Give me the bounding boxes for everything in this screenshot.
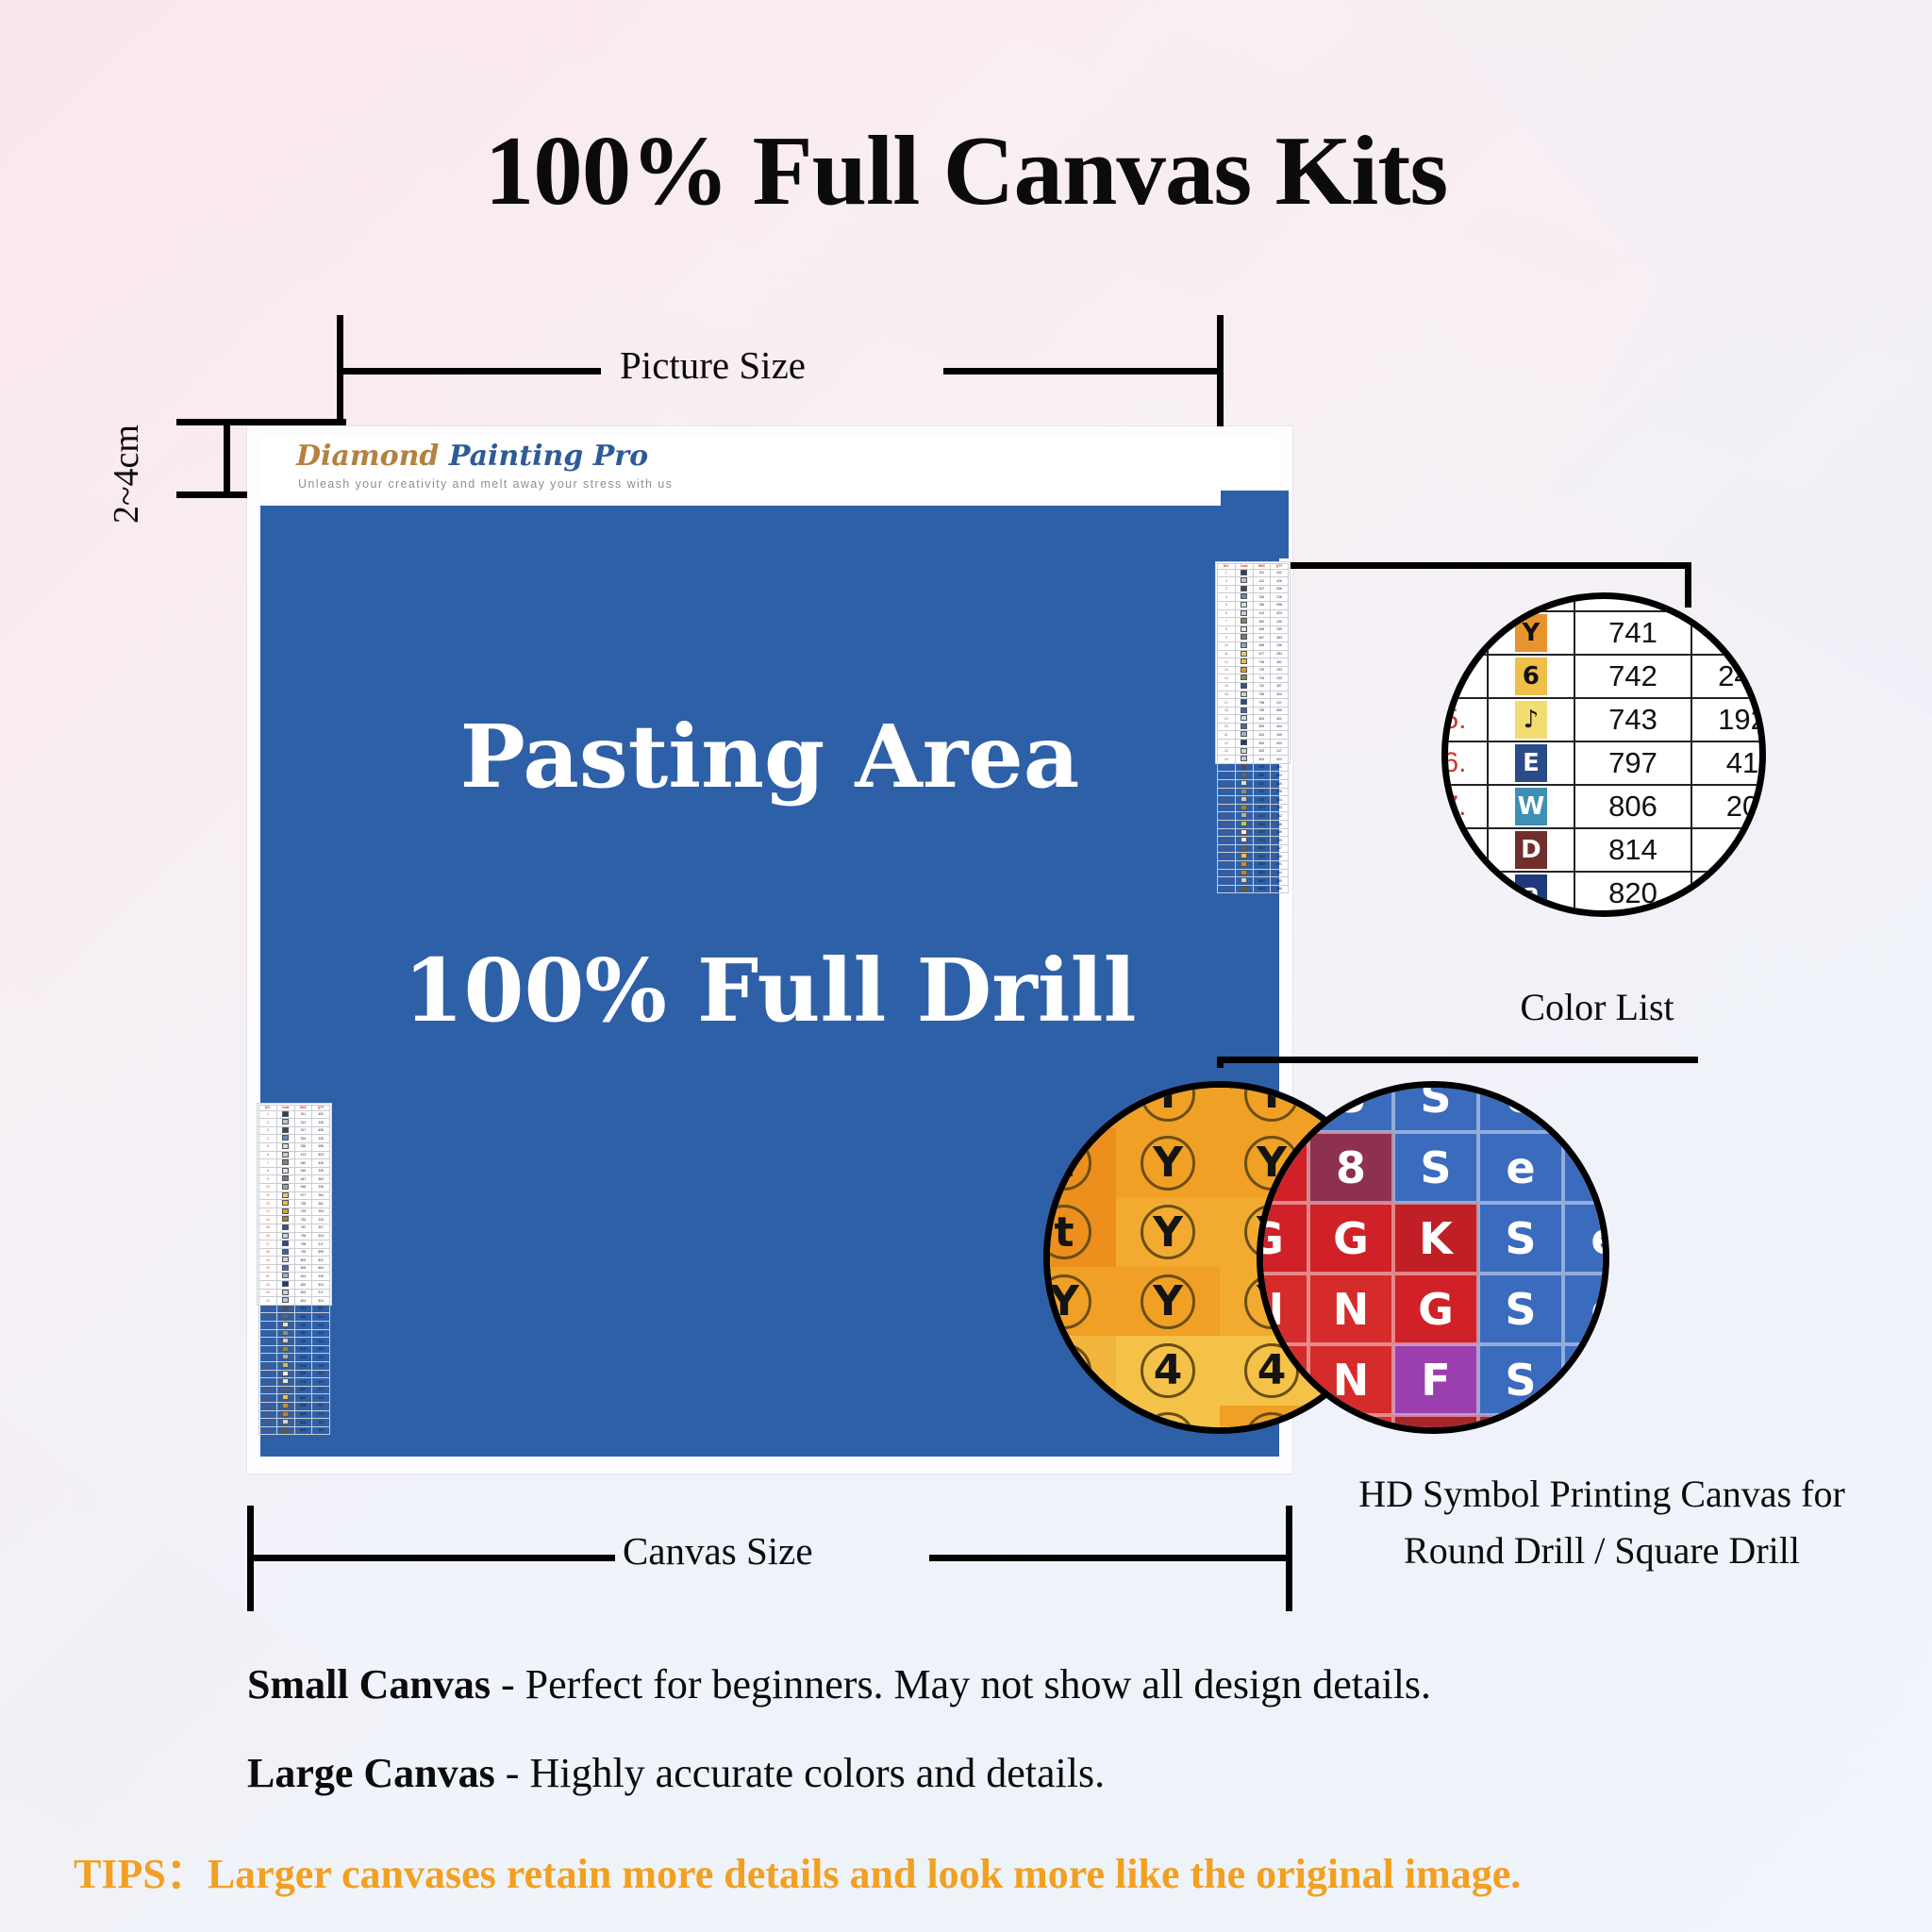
table-row: 23823217 (259, 1289, 330, 1297)
cell-qty: 226 (312, 1135, 330, 1143)
cell-dmc: 312 (1253, 577, 1271, 586)
drill-cell: e (1478, 1132, 1563, 1203)
cell-qty: 998 (312, 1142, 330, 1151)
cell-no: 12 (1218, 658, 1236, 667)
cell-no: 18 (259, 1248, 277, 1257)
small-canvas-dash: - (491, 1661, 525, 1707)
table-row: 13729293 (259, 1207, 330, 1216)
cell-qty: 363 (312, 1175, 330, 1184)
cell-no: 32 (1218, 821, 1236, 829)
cell-qty: 148 (312, 1362, 330, 1371)
cell-symbol (276, 1338, 294, 1346)
table-row: 3317636 (259, 1126, 330, 1135)
table-row: 27930645 (1218, 780, 1289, 789)
cell-qty: 524 (1271, 691, 1289, 699)
cell-qty: 524 (1271, 609, 1289, 618)
color-chip-right (1221, 491, 1289, 558)
cell-symbol (1235, 650, 1253, 658)
table-row: 333787369 (259, 1370, 330, 1378)
cell-symbol (1235, 860, 1253, 869)
cell-symbol (1235, 804, 1253, 812)
table-row: 8645339 (259, 1167, 330, 1175)
drill-cell: S (1478, 1344, 1563, 1415)
cell-no: 21 (1218, 731, 1236, 740)
cell-dmc: 824 (294, 1297, 312, 1306)
cell-qty: 414 (1691, 741, 1766, 785)
color-list-zoom-circle: 13.★733Y741114.6742248315.♪743192116.E79… (1441, 592, 1766, 917)
cell-qty: 204 (1691, 785, 1766, 828)
cell-dmc: 799 (294, 1248, 312, 1257)
cell-dmc: 645 (294, 1167, 312, 1175)
cell-no: 6 (1218, 609, 1236, 618)
cell-qty: 356 (312, 1426, 330, 1435)
cell-symbol (276, 1257, 294, 1265)
cell-no: 1 (259, 1110, 277, 1119)
cell-qty: 233 (1271, 675, 1289, 683)
cell-no: 30 (259, 1345, 277, 1354)
cell-symbol (1235, 869, 1253, 877)
cell-symbol (1235, 585, 1253, 593)
cell-qty: 524 (312, 1338, 330, 1346)
cell-no: 39 (1218, 877, 1236, 886)
cell-symbol: Y (1488, 611, 1574, 655)
drill-cell: Y (1043, 1081, 1116, 1128)
table-row: 6413524 (1218, 609, 1289, 618)
drill-symbol: t (1043, 1136, 1091, 1191)
cell-no: 3 (1218, 585, 1236, 593)
cell-qty: 528 (1271, 788, 1289, 796)
cell-symbol (276, 1207, 294, 1216)
cell-no: 32 (259, 1362, 277, 1371)
cell-no: 3 (259, 1126, 277, 1135)
table-row: 373828291 (1218, 860, 1289, 869)
table-row: 383829414 (1218, 869, 1289, 877)
cell-qty: 217 (312, 1241, 330, 1249)
cell-no: 35 (1218, 844, 1236, 853)
cell-qty: 293 (1271, 666, 1289, 675)
cell-no: 29 (259, 1338, 277, 1346)
cell-symbol (1235, 715, 1253, 724)
table-row: 373828291 (259, 1402, 330, 1410)
cell-dmc: 803 (294, 1257, 312, 1265)
square-drill-grid: GSSeeG8SeeGGKSeNNGSeNNFSSNNKKK (1257, 1081, 1609, 1434)
callout-leader-drill-h (1217, 1057, 1698, 1063)
drill-symbol: Y (1043, 1081, 1091, 1122)
cell-symbol: ♪ (1488, 698, 1574, 741)
cell-qty: 284 (312, 1191, 330, 1200)
cell-dmc: 640 (1253, 618, 1271, 626)
cell-dmc: 742 (294, 1224, 312, 1232)
cell-no: 31 (259, 1354, 277, 1362)
drill-symbol: t (1043, 1205, 1091, 1259)
cell-symbol (276, 1378, 294, 1387)
cell-no: 37 (259, 1402, 277, 1410)
cell-symbol (276, 1329, 294, 1338)
table-row: 343799609 (1218, 837, 1289, 845)
cell-symbol: 6 (1488, 655, 1574, 698)
symbol-swatch: Y (1515, 614, 1547, 652)
cell-no: 15 (1218, 682, 1236, 691)
page-background: 100% Full Canvas Kits Picture Size 2~4cm… (0, 0, 1932, 1932)
cell-qty: 524 (312, 1281, 330, 1290)
margin-label: 2~4cm (106, 425, 147, 524)
cell-symbol (276, 1224, 294, 1232)
cell-dmc: 647 (294, 1175, 312, 1184)
cell-no: 19 (259, 1257, 277, 1265)
cell-qty: 293 (312, 1207, 330, 1216)
cell-symbol: D (1488, 828, 1574, 872)
cell-dmc: 3843 (294, 1426, 312, 1435)
table-row: 1161432 (259, 1110, 330, 1119)
table-row: 29939524 (1218, 796, 1289, 805)
cell-symbol (276, 1167, 294, 1175)
table-row: 14.67422483 (1441, 655, 1766, 698)
cell-no: 26 (259, 1313, 277, 1322)
cell-symbol (1235, 837, 1253, 845)
cell-dmc: 813 (1253, 731, 1271, 740)
drill-cell: G (1257, 1132, 1308, 1203)
cell-symbol (276, 1322, 294, 1330)
cell-no: 36 (259, 1394, 277, 1403)
table-row: 353807217 (259, 1386, 330, 1394)
cell-qty: 609 (312, 1378, 330, 1387)
cell-symbol (1235, 601, 1253, 609)
cell-symbol (1235, 707, 1253, 715)
table-row: Y7411 (1441, 611, 1766, 655)
symbol-swatch: E (1515, 744, 1547, 782)
cell-qty: 217 (1271, 747, 1289, 756)
cell-dmc: 648 (1253, 641, 1271, 650)
cell-dmc: 3829 (1253, 869, 1271, 877)
color-strip-right: NO.CodeDMCQTY116143223124263317636433422… (1215, 561, 1291, 764)
cell-qty: 369 (1271, 828, 1289, 837)
drill-cell: Y (1043, 1267, 1116, 1336)
symbol-swatch: W (1515, 788, 1547, 825)
cell-qty: 338 (1271, 853, 1289, 861)
table-row: 5336998 (1218, 601, 1289, 609)
cell-dmc: 825 (294, 1305, 312, 1313)
cell-symbol (276, 1191, 294, 1200)
cell-no: 38 (1218, 869, 1236, 877)
table-row: 18799899 (1218, 707, 1289, 715)
cell-qty: 609 (1271, 837, 1289, 845)
cell-qty: 522 (1271, 715, 1289, 724)
cell-no: 25 (1218, 763, 1236, 772)
cell-symbol (276, 1410, 294, 1419)
cell-dmc: 312 (294, 1119, 312, 1127)
large-canvas-label: Large Canvas (247, 1750, 495, 1796)
table-row: 19803522 (259, 1257, 330, 1265)
cell-dmc: 742 (1253, 682, 1271, 691)
cell-qty: 291 (1271, 860, 1289, 869)
callout-leader-colorlist-h (1291, 562, 1691, 569)
cell-no: 19 (1218, 715, 1236, 724)
drill-cell: G (1308, 1203, 1393, 1274)
cell-symbol (1235, 691, 1253, 699)
cell-symbol (1235, 609, 1253, 618)
table-row: 4334226 (1218, 593, 1289, 602)
cell-dmc: 3799 (1253, 837, 1271, 845)
cell-no: 7 (1218, 618, 1236, 626)
cell-symbol (1235, 723, 1253, 731)
table-row: 28931528 (259, 1329, 330, 1338)
table-row: 323348148 (259, 1362, 330, 1371)
cell-symbol (1235, 577, 1253, 586)
cell-dmc: 931 (1253, 788, 1271, 796)
cell-no: 6 (259, 1151, 277, 1159)
table-row: 5336998 (259, 1142, 330, 1151)
cell-symbol (1235, 885, 1253, 893)
picture-size-label: Picture Size (620, 342, 806, 388)
table-row: 23823217 (1218, 747, 1289, 756)
cell-dmc: 733 (294, 1216, 312, 1224)
cell-symbol (276, 1216, 294, 1224)
small-canvas-label: Small Canvas (247, 1661, 491, 1707)
cell-dmc: 645 (1253, 625, 1271, 634)
cell-no: 5 (1218, 601, 1236, 609)
cell-no: 8 (1218, 625, 1236, 634)
table-row: 26826524 (1218, 772, 1289, 780)
cell-qty: 40 (1691, 828, 1766, 872)
cell-symbol: E (1488, 741, 1574, 785)
cell-symbol: a (1488, 872, 1574, 915)
cell-qty: 528 (312, 1329, 330, 1338)
cell-no: 37 (1218, 860, 1236, 869)
full-drill-label: 100% Full Drill (260, 940, 1279, 1041)
cell-dmc: 3325 (1253, 812, 1271, 821)
color-list-zoom-table: 13.★733Y741114.6742248315.♪743192116.E79… (1441, 592, 1766, 917)
drill-symbol: Y (1043, 1343, 1091, 1398)
cell-dmc: 820 (294, 1281, 312, 1290)
cell-dmc: 823 (294, 1289, 312, 1297)
cell-no: 1 (1218, 569, 1236, 577)
cell-no: 38 (259, 1410, 277, 1419)
table-row: 26826524 (259, 1313, 330, 1322)
drill-cell: Y (1116, 1081, 1220, 1128)
table-row: 393842259 (259, 1419, 330, 1427)
cell-qty: 524 (1271, 740, 1289, 748)
table-row: 15742307 (1218, 682, 1289, 691)
cell-dmc: 3842 (294, 1419, 312, 1427)
table-row: 7640430 (259, 1159, 330, 1168)
cell-symbol (1235, 796, 1253, 805)
cell-qty: 291 (312, 1402, 330, 1410)
cell-code: 742 (1574, 655, 1692, 698)
cell-qty: 233 (312, 1216, 330, 1224)
cell-index (1441, 872, 1488, 915)
table-row: 383829414 (259, 1410, 330, 1419)
cell-qty: 414 (1271, 869, 1289, 877)
table-row: 12728261 (259, 1200, 330, 1208)
cell-dmc: 647 (1253, 634, 1271, 642)
table-row: 13729293 (1218, 666, 1289, 675)
cell-index: 17. (1441, 785, 1488, 828)
table-row: 22820524 (259, 1281, 330, 1290)
cell-symbol (1235, 625, 1253, 634)
cell-dmc: 161 (294, 1110, 312, 1119)
table-row: 16.E797414 (1441, 741, 1766, 785)
cell-dmc: 3807 (294, 1386, 312, 1394)
drill-cell: e (1563, 1081, 1609, 1132)
cell-qty: 262 (1271, 812, 1289, 821)
cell-qty: 645 (1271, 780, 1289, 789)
cell-dmc: 3807 (1253, 844, 1271, 853)
cell-no: 33 (259, 1370, 277, 1378)
cell-no: 20 (259, 1264, 277, 1273)
cell-dmc: 161 (1253, 569, 1271, 577)
cell-symbol (1235, 821, 1253, 829)
cell-dmc: 813 (294, 1273, 312, 1281)
drill-caption-line2: Round Drill / Square Drill (1300, 1528, 1904, 1573)
cell-symbol (1235, 658, 1253, 667)
cell-no: 13 (259, 1207, 277, 1216)
cell-dmc: 803 (1253, 715, 1271, 724)
table-row: 3317636 (1218, 585, 1289, 593)
cell-dmc: 809 (1253, 723, 1271, 731)
cell-dmc: 336 (294, 1142, 312, 1151)
cell-qty: 1921 (1691, 698, 1766, 741)
cell-qty: 430 (1271, 618, 1289, 626)
table-row: 16796524 (1218, 691, 1289, 699)
cell-qty: 261 (312, 1200, 330, 1208)
cell-code: 741 (1574, 611, 1692, 655)
cell-no: 40 (259, 1426, 277, 1435)
cell-index: 16. (1441, 741, 1488, 785)
cell-qty: 426 (1271, 577, 1289, 586)
cell-index: 18. (1441, 828, 1488, 872)
table-row: 10648246 (1218, 641, 1289, 650)
cell-no: 17 (259, 1241, 277, 1249)
cell-symbol (276, 1281, 294, 1290)
cell-dmc: 728 (294, 1200, 312, 1208)
cell-symbol (1235, 844, 1253, 853)
tips-label: TIPS： (74, 1851, 208, 1897)
cell-no: 27 (259, 1322, 277, 1330)
cell-qty: 284 (1271, 650, 1289, 658)
cell-code: 814 (1574, 828, 1692, 872)
cell-symbol (276, 1297, 294, 1306)
cell-qty: 645 (312, 1322, 330, 1330)
cell-dmc: 334 (294, 1135, 312, 1143)
cell-qty: 246 (1271, 641, 1289, 650)
drill-cell: S (1478, 1203, 1563, 1274)
cell-symbol (1235, 593, 1253, 602)
table-row: 313325262 (1218, 812, 1289, 821)
cell-symbol (1235, 666, 1253, 675)
cell-dmc: 3012 (294, 1345, 312, 1354)
cell-symbol (276, 1175, 294, 1184)
cell-dmc: 3348 (1253, 821, 1271, 829)
cell-no: 16 (1218, 691, 1236, 699)
cell-qty: 148 (1271, 821, 1289, 829)
table-row: 16796524 (259, 1232, 330, 1241)
table-row: 17798217 (1218, 699, 1289, 708)
cell-qty: 217 (312, 1386, 330, 1394)
cell-no: 33 (1218, 828, 1236, 837)
cell-qty: 217 (1271, 699, 1289, 708)
cell-dmc: 413 (1253, 609, 1271, 618)
cell-dmc: 648 (294, 1183, 312, 1191)
cell-symbol (276, 1313, 294, 1322)
cell-qty: 363 (1271, 634, 1289, 642)
cell-dmc: 823 (1253, 747, 1271, 756)
table-row: 4334226 (259, 1135, 330, 1143)
cell-symbol (276, 1241, 294, 1249)
table-row: 363822338 (259, 1394, 330, 1403)
table-row: 403843356 (259, 1426, 330, 1435)
margin-tick-inner (224, 419, 230, 498)
color-strip-left: NO.CodeDMCQTY116143223124263317636433422… (257, 1103, 332, 1306)
cell-qty: 430 (312, 1159, 330, 1168)
symbol-swatch: ♪ (1515, 701, 1547, 739)
small-canvas-line: Small Canvas - Perfect for beginners. Ma… (247, 1660, 1431, 1708)
cell-dmc: 3787 (1253, 828, 1271, 837)
cell-symbol (1235, 740, 1253, 748)
cell-no: 22 (259, 1281, 277, 1290)
cell-index: 14. (1441, 655, 1488, 698)
cell-qty: 432 (312, 1110, 330, 1119)
picture-size-line-left (337, 368, 601, 375)
cell-index: 15. (1441, 698, 1488, 741)
cell-no: 9 (1218, 634, 1236, 642)
cell-qty: 524 (312, 1232, 330, 1241)
cell-no: 7 (259, 1159, 277, 1168)
tips-line: TIPS：Larger canvases retain more details… (74, 1840, 1521, 1900)
table-row: 403843356 (1218, 885, 1289, 893)
cell-no: 13 (1218, 666, 1236, 675)
cell-dmc: 640 (294, 1159, 312, 1168)
cell-dmc: 824 (1253, 756, 1271, 764)
large-canvas-line: Large Canvas - Highly accurate colors an… (247, 1749, 1105, 1797)
table-row: 21813349 (259, 1273, 330, 1281)
cell-symbol (276, 1126, 294, 1135)
cell-dmc: 798 (1253, 699, 1271, 708)
drill-cell: Y (1043, 1336, 1116, 1405)
cell-symbol (1235, 699, 1253, 708)
table-row: 363822338 (1218, 853, 1289, 861)
cell-dmc: 796 (1253, 691, 1271, 699)
drill-symbol: Y (1141, 1205, 1195, 1259)
cell-dmc: 931 (294, 1329, 312, 1338)
drill-cell: N (1308, 1274, 1393, 1344)
picture-size-line-right (943, 368, 1224, 375)
cell-symbol (276, 1119, 294, 1127)
cell-symbol (1235, 780, 1253, 789)
cell-symbol (276, 1183, 294, 1191)
cell-symbol (276, 1354, 294, 1362)
cell-symbol (276, 1232, 294, 1241)
drill-symbol: Y (1141, 1136, 1195, 1191)
cell-qty: 998 (1271, 601, 1289, 609)
cell-qty: 261 (1271, 658, 1289, 667)
table-row: 18799899 (259, 1248, 330, 1257)
cell-dmc: 677 (294, 1191, 312, 1200)
pasting-area-label: Pasting Area (260, 706, 1279, 808)
table-row: 12728261 (1218, 658, 1289, 667)
cell-symbol (276, 1200, 294, 1208)
cell-no: 23 (1218, 747, 1236, 756)
drill-cell: N (1257, 1344, 1308, 1415)
cell-no: 2 (259, 1119, 277, 1127)
cell-qty: 338 (312, 1394, 330, 1403)
table-row: 24824524 (1218, 756, 1289, 764)
table-row: 24824524 (259, 1297, 330, 1306)
cell-no: 8 (259, 1167, 277, 1175)
drill-cell: e (1478, 1081, 1563, 1132)
canvas-size-line-left (247, 1555, 615, 1561)
drill-cell: t (1043, 1128, 1116, 1197)
table-row: 9647363 (259, 1175, 330, 1184)
